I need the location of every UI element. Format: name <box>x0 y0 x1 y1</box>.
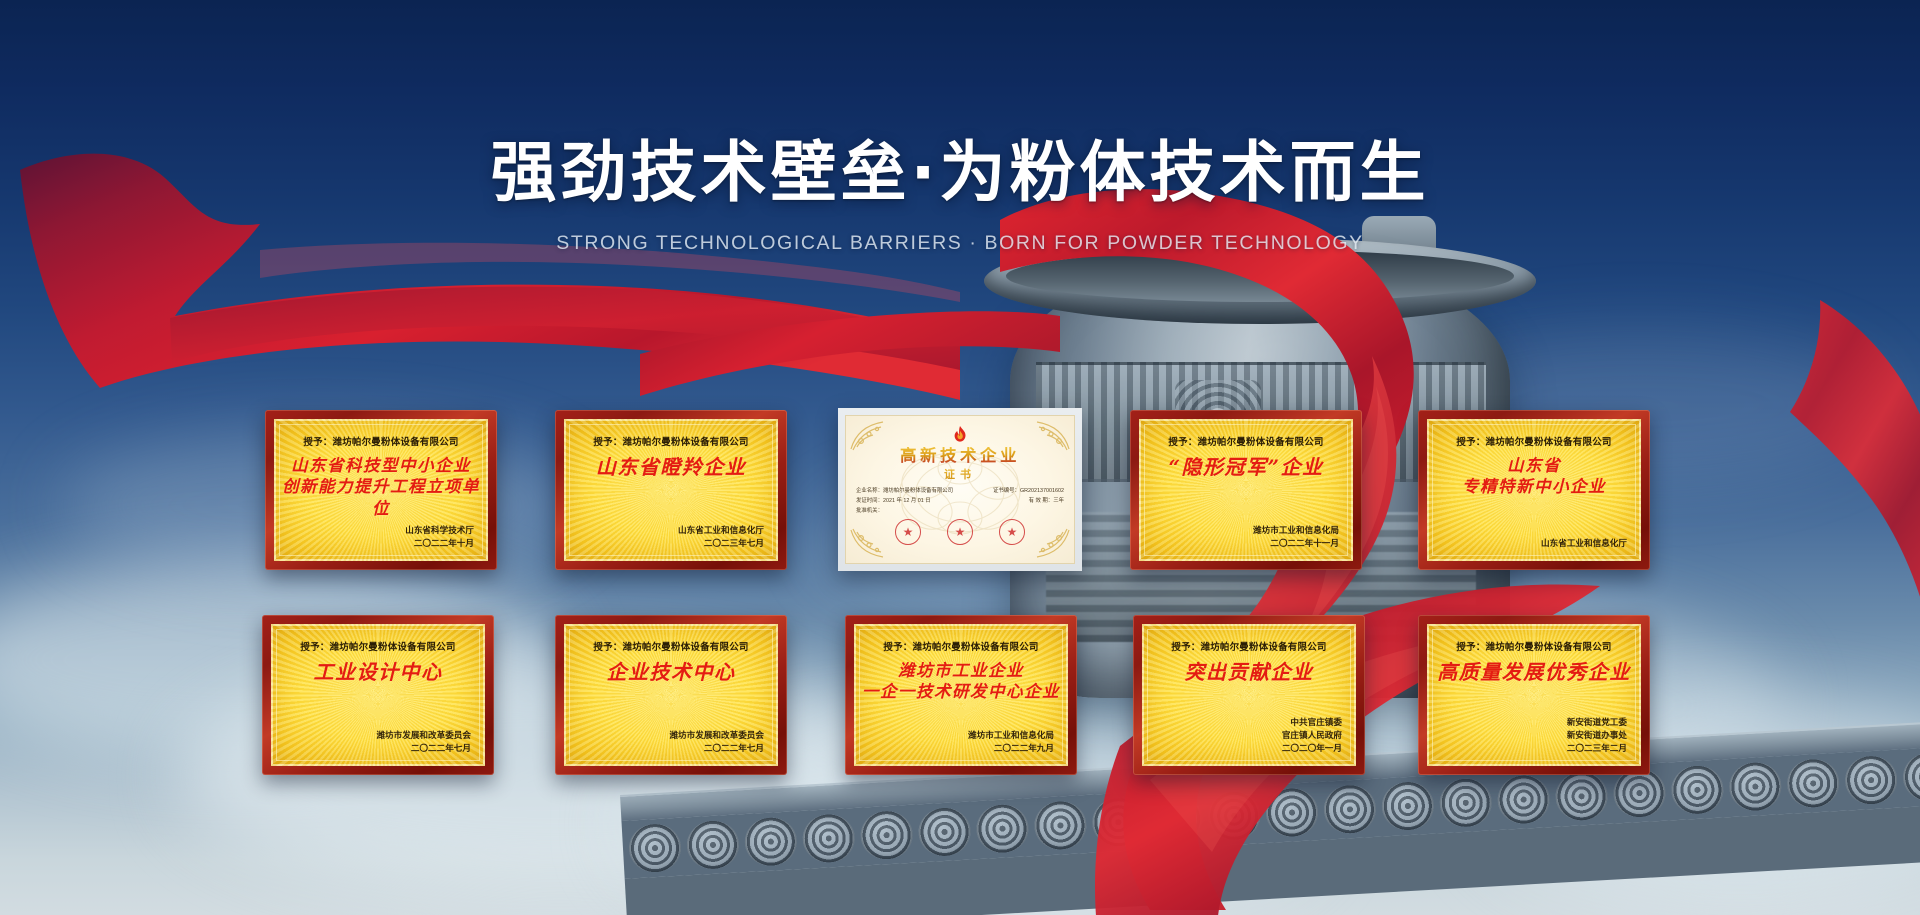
plaque-title-line: 高质量发展优秀企业 <box>1437 660 1631 685</box>
certificate-title: 高新技术企业 <box>900 447 1020 465</box>
plaque-title: 高质量发展优秀企业 <box>1437 660 1631 685</box>
filigree-corner-icon <box>1031 419 1071 453</box>
award-plaque[interactable]: 授予：潍坊帕尔曼粉体设备有限公司突出贡献企业中共官庄镇委官庄镇人民政府二〇二〇年… <box>1133 615 1365 775</box>
plaque-issuer: 中共官庄镇委官庄镇人民政府二〇二〇年一月 <box>1282 717 1342 756</box>
plaque-issuer-line: 二〇二三年二月 <box>1567 743 1627 756</box>
certificate-field: 有 效 期：三年 <box>1029 496 1064 506</box>
plaque-title-line: 专精特新中小企业 <box>1462 476 1606 497</box>
award-plaque[interactable]: 授予：潍坊帕尔曼粉体设备有限公司企业技术中心潍坊市发展和改革委员会二〇二二年七月 <box>555 615 787 775</box>
plaque-issuer: 潍坊市工业和信息化局二〇二二年九月 <box>968 730 1054 756</box>
certificate-field: 发证时间：2021 年 12 月 01 日 <box>856 496 931 506</box>
plaque-issuer-line: 二〇二二年九月 <box>968 743 1054 756</box>
award-plaque[interactable]: 授予：潍坊帕尔曼粉体设备有限公司山东省科技型中小企业创新能力提升工程立项单位山东… <box>265 410 497 570</box>
plaque-issuer-line: 中共官庄镇委 <box>1282 717 1342 730</box>
plaque-title-line: 突出贡献企业 <box>1185 660 1314 685</box>
certificate-field: 批准机关： <box>856 506 883 516</box>
plaque-title-line: 山东省瞪羚企业 <box>596 455 747 480</box>
certificate-fields: 企业名称：潍坊帕尔曼粉体设备有限公司 证书编号：GR202137001602 发… <box>845 482 1075 516</box>
plaque-issuer-line: 二〇二二年七月 <box>669 743 764 756</box>
plaque-issuer-line: 二〇二二年十一月 <box>1253 538 1339 551</box>
plaque-issuer: 山东省工业和信息化厅二〇二三年七月 <box>678 525 764 551</box>
plaque-title: 企业技术中心 <box>607 660 736 685</box>
plaque-title: “隐形冠军”企业 <box>1168 455 1323 480</box>
award-plaque[interactable]: 授予：潍坊帕尔曼粉体设备有限公司山东省瞪羚企业山东省工业和信息化厅二〇二三年七月 <box>555 410 787 570</box>
award-plaque[interactable]: 授予：潍坊帕尔曼粉体设备有限公司山东省专精特新中小企业山东省工业和信息化厅 <box>1418 410 1650 570</box>
plaque-title-line: 山东省 <box>1462 455 1606 476</box>
plaque-title: 潍坊市工业企业一企一技术研发中心企业 <box>862 660 1060 703</box>
plaque-issuer-line: 潍坊市工业和信息化局 <box>968 730 1054 743</box>
plaque-issuer-line: 官庄镇人民政府 <box>1282 730 1342 743</box>
plaque-issuer-line: 二〇二二年七月 <box>376 743 471 756</box>
official-seal: ★ <box>947 519 973 545</box>
plaque-title-line: “隐形冠军”企业 <box>1168 455 1323 480</box>
official-seal: ★ <box>895 519 921 545</box>
award-plaque[interactable]: 授予：潍坊帕尔曼粉体设备有限公司潍坊市工业企业一企一技术研发中心企业潍坊市工业和… <box>845 615 1077 775</box>
plaque-title: 山东省专精特新中小企业 <box>1462 455 1606 498</box>
plaque-issuer-line: 潍坊市发展和改革委员会 <box>669 730 764 743</box>
high-tech-enterprise-certificate[interactable]: 高新技术企业 证书 企业名称：潍坊帕尔曼粉体设备有限公司 证书编号：GR2021… <box>838 408 1082 571</box>
plaque-issuer-line: 二〇二〇年一月 <box>1282 743 1342 756</box>
award-plaque[interactable]: 授予：潍坊帕尔曼粉体设备有限公司高质量发展优秀企业新安街道党工委新安街道办事处二… <box>1418 615 1650 775</box>
hero-banner: 强劲技术壁垒·为粉体技术而生 STRONG TECHNOLOGICAL BARR… <box>0 0 1920 915</box>
plaque-issuer-line: 潍坊市工业和信息化局 <box>1253 525 1339 538</box>
plaque-issuer: 山东省科学技术厅二〇二二年十月 <box>405 525 474 551</box>
plaque-title-line: 山东省科技型中小企业 <box>274 455 488 476</box>
certificate-field: 证书编号：GR202137001602 <box>993 486 1064 496</box>
certificate-field: 企业名称：潍坊帕尔曼粉体设备有限公司 <box>856 486 953 496</box>
plaque-award-line: 授予：潍坊帕尔曼粉体设备有限公司 <box>1456 639 1611 653</box>
filigree-corner-icon <box>849 419 889 453</box>
plaque-issuer-line: 山东省科学技术厅 <box>405 525 474 538</box>
plaque-title: 突出贡献企业 <box>1185 660 1314 685</box>
plaque-award-line: 授予：潍坊帕尔曼粉体设备有限公司 <box>593 434 748 448</box>
plaque-title: 工业设计中心 <box>314 660 443 685</box>
plaque-issuer: 山东省工业和信息化厅 <box>1541 538 1627 551</box>
plaque-award-line: 授予：潍坊帕尔曼粉体设备有限公司 <box>883 639 1038 653</box>
plaque-award-line: 授予：潍坊帕尔曼粉体设备有限公司 <box>1456 434 1611 448</box>
plaque-title-line: 创新能力提升工程立项单位 <box>274 476 488 519</box>
plaque-issuer-line: 潍坊市发展和改革委员会 <box>376 730 471 743</box>
plaque-title-line: 企业技术中心 <box>607 660 736 685</box>
award-plaque[interactable]: 授予：潍坊帕尔曼粉体设备有限公司工业设计中心潍坊市发展和改革委员会二〇二二年七月 <box>262 615 494 775</box>
flame-logo-icon <box>949 425 971 447</box>
plaque-issuer-line: 山东省工业和信息化厅 <box>678 525 764 538</box>
plaque-award-line: 授予：潍坊帕尔曼粉体设备有限公司 <box>300 639 455 653</box>
plaque-issuer: 潍坊市工业和信息化局二〇二二年十一月 <box>1253 525 1339 551</box>
plaque-award-line: 授予：潍坊帕尔曼粉体设备有限公司 <box>1171 639 1326 653</box>
plaque-title: 山东省瞪羚企业 <box>596 455 747 480</box>
official-seal: ★ <box>999 519 1025 545</box>
plaque-award-line: 授予：潍坊帕尔曼粉体设备有限公司 <box>593 639 748 653</box>
plaque-title-line: 工业设计中心 <box>314 660 443 685</box>
certificate-subtitle: 证书 <box>944 466 976 482</box>
plaque-title-line: 一企一技术研发中心企业 <box>862 681 1060 702</box>
plaque-issuer-line: 山东省工业和信息化厅 <box>1541 538 1627 551</box>
plaque-award-line: 授予：潍坊帕尔曼粉体设备有限公司 <box>1168 434 1323 448</box>
plaque-title-line: 潍坊市工业企业 <box>862 660 1060 681</box>
plaque-award-line: 授予：潍坊帕尔曼粉体设备有限公司 <box>303 434 458 448</box>
plaque-issuer: 新安街道党工委新安街道办事处二〇二三年二月 <box>1567 717 1627 756</box>
certificate-seal-row: ★ ★ ★ <box>845 519 1075 545</box>
plaque-issuer: 潍坊市发展和改革委员会二〇二二年七月 <box>669 730 764 756</box>
plaque-title: 山东省科技型中小企业创新能力提升工程立项单位 <box>274 455 488 519</box>
award-plaque[interactable]: 授予：潍坊帕尔曼粉体设备有限公司“隐形冠军”企业潍坊市工业和信息化局二〇二二年十… <box>1130 410 1362 570</box>
plaque-issuer-line: 二〇二二年十月 <box>405 538 474 551</box>
plaque-issuer-line: 新安街道党工委 <box>1567 717 1627 730</box>
plaque-issuer: 潍坊市发展和改革委员会二〇二二年七月 <box>376 730 471 756</box>
plaque-issuer-line: 二〇二三年七月 <box>678 538 764 551</box>
plaque-issuer-line: 新安街道办事处 <box>1567 730 1627 743</box>
